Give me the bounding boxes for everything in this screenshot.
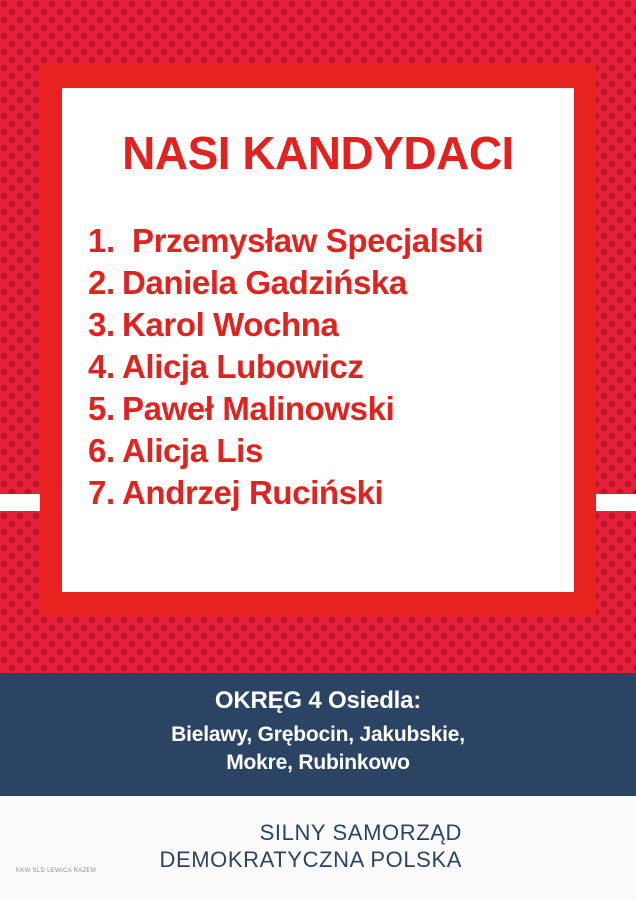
campaign-slogan: SILNY SAMORZĄD DEMOKRATYCZNA POLSKA (0, 820, 462, 874)
page-title: NASI KANDYDACI (62, 130, 574, 176)
candidate-number: 2. (88, 266, 122, 299)
district-areas-line-1: Bielawy, Grębocin, Jakubskie, (0, 721, 636, 749)
candidate-number: 4. (88, 350, 122, 383)
candidate-name: Andrzej Ruciński (122, 476, 383, 509)
candidate-name: Karol Wochna (122, 308, 338, 341)
list-item: 6. Alicja Lis (88, 434, 558, 476)
slogan-line-1: SILNY SAMORZĄD (0, 820, 462, 847)
district-title: OKRĘG 4 Osiedla: (0, 687, 636, 716)
candidate-name: Przemysław Specjalski (132, 224, 483, 257)
district-band: OKRĘG 4 Osiedla: Bielawy, Grębocin, Jaku… (0, 673, 636, 796)
list-item: 2. Daniela Gadzińska (88, 266, 558, 308)
candidate-number: 7. (88, 476, 122, 509)
candidate-list: 1. Przemysław Specjalski 2. Daniela Gadz… (88, 224, 558, 518)
district-areas-line-2: Mokre, Rubinkowo (0, 749, 636, 777)
list-item: 5. Paweł Malinowski (88, 392, 558, 434)
candidate-name: Alicja Lis (122, 434, 263, 467)
list-item: 7. Andrzej Ruciński (88, 476, 558, 518)
district-areas: Bielawy, Grębocin, Jakubskie, Mokre, Rub… (0, 721, 636, 778)
list-item: 3. Karol Wochna (88, 308, 558, 350)
list-item: 4. Alicja Lubowicz (88, 350, 558, 392)
campaign-poster: NASI KANDYDACI 1. Przemysław Specjalski … (0, 0, 636, 900)
list-item: 1. Przemysław Specjalski (88, 224, 558, 266)
candidate-number: 1. (88, 224, 132, 257)
candidate-name: Alicja Lubowicz (122, 350, 364, 383)
candidate-number: 5. (88, 392, 122, 425)
footer-bar: SILNY SAMORZĄD DEMOKRATYCZNA POLSKA SLD … (0, 796, 636, 900)
candidate-number: 6. (88, 434, 122, 467)
candidate-number: 3. (88, 308, 122, 341)
candidate-name: Daniela Gadzińska (122, 266, 407, 299)
candidate-name: Paweł Malinowski (122, 392, 394, 425)
committee-fineprint: KKW SLD LEWICA RAZEM (16, 868, 96, 874)
